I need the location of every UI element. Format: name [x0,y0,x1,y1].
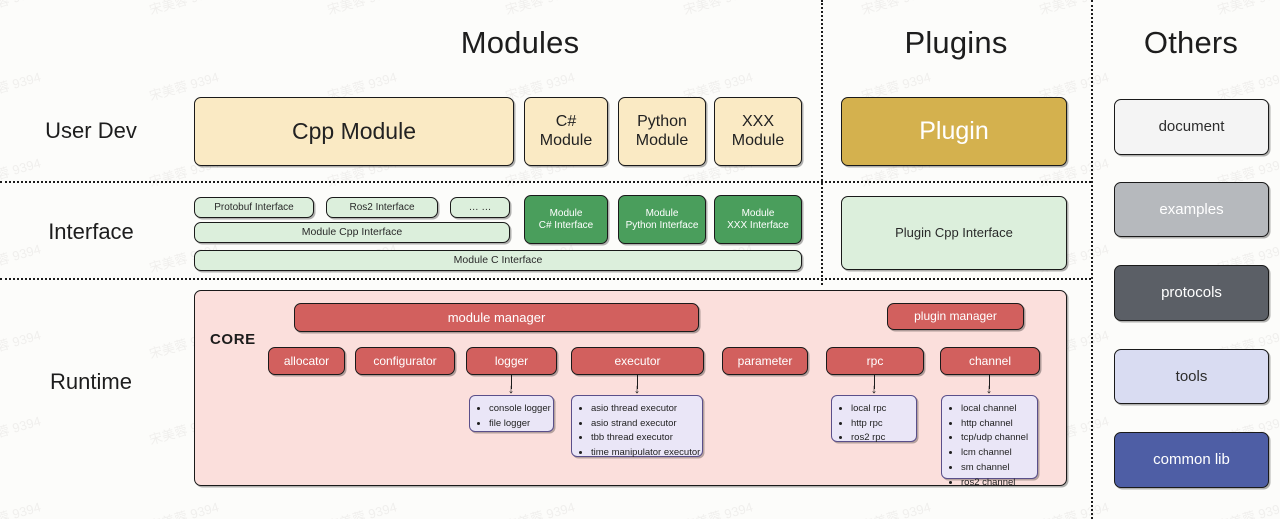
interface-module-c[interactable]: Module C Interface [194,250,802,271]
others-document[interactable]: document [1114,99,1269,155]
core-executor-label: executor [614,354,660,368]
divider-userdev-interface [0,181,1091,183]
others-tools-label: tools [1176,368,1208,386]
watermark-text: 宋美蓉 9394 [859,0,933,18]
detail-item: console logger [489,402,547,417]
detail-item: lcm channel [961,446,1031,461]
interface-module-xxx[interactable]: Module XXX Interface [714,195,802,244]
detail-item: sm channel [961,461,1031,476]
interface-ros2[interactable]: Ros2 Interface [326,197,438,218]
core-configurator[interactable]: configurator [355,347,455,375]
core-rpc[interactable]: rpc [826,347,924,375]
watermark-text: 宋美蓉 9394 [1037,0,1111,18]
interface-module-csharp-label: Module C# Interface [539,208,593,232]
interface-plugin-cpp[interactable]: Plugin Cpp Interface [841,196,1067,270]
user-dev-python-module-label: Python Module [636,113,688,151]
watermark-text: 宋美蓉 9394 [859,497,933,519]
row-label-interface: Interface [6,219,176,245]
column-header-others: Others [1106,25,1276,61]
core-label: CORE [210,331,256,348]
divider-modules-plugins [821,0,823,285]
watermark-text: 宋美蓉 9394 [503,497,577,519]
arrow-executor-icon: ↓ [630,382,644,395]
watermark-text: 宋美蓉 9394 [681,497,755,519]
others-protocols-label: protocols [1161,284,1222,302]
core-channel[interactable]: channel [940,347,1040,375]
user-dev-xxx-module[interactable]: XXX Module [714,97,802,166]
arrow-channel-icon: ↓ [982,382,996,395]
core-allocator[interactable]: allocator [268,347,345,375]
watermark-text: 宋美蓉 9394 [325,497,399,519]
core-module-manager[interactable]: module manager [294,303,699,332]
others-examples-label: examples [1159,201,1223,219]
user-dev-csharp-module[interactable]: C# Module [524,97,608,166]
watermark-text: 宋美蓉 9394 [0,497,43,519]
interface-module-c-label: Module C Interface [454,254,543,266]
rpc-details-list: local rpchttp rpcros2 rpc [839,402,910,446]
others-protocols[interactable]: protocols [1114,265,1269,321]
detail-item: time manipulator executor [591,446,696,461]
interface-module-python[interactable]: Module Python Interface [618,195,706,244]
logger-details-list: console loggerfile logger [477,402,547,431]
column-header-modules: Modules [300,25,740,61]
user-dev-cpp-module-label: Cpp Module [292,118,416,145]
user-dev-plugin[interactable]: Plugin [841,97,1067,166]
interface-module-cpp-label: Module Cpp Interface [302,226,402,238]
detail-item: asio thread executor [591,402,696,417]
rpc-details: local rpchttp rpcros2 rpc [831,395,917,442]
detail-item: local channel [961,402,1031,417]
detail-item: http rpc [851,417,910,432]
core-configurator-label: configurator [373,354,436,368]
core-allocator-label: allocator [284,354,329,368]
detail-item: ros2 rpc [851,431,910,446]
logger-details: console loggerfile logger [469,395,554,432]
core-channel-label: channel [969,354,1011,368]
watermark-text: 宋美蓉 9394 [0,67,43,105]
watermark-text: 宋美蓉 9394 [1037,497,1111,519]
interface-module-xxx-label: Module XXX Interface [727,208,789,232]
column-header-plugins: Plugins [836,25,1076,61]
core-logger-label: logger [495,354,528,368]
architecture-diagram: 宋美蓉 9394宋美蓉 9394宋美蓉 9394宋美蓉 9394宋美蓉 9394… [0,0,1280,519]
executor-details-list: asio thread executorasio strand executor… [579,402,696,461]
interface-ros2-label: Ros2 Interface [349,202,414,214]
detail-item: http channel [961,417,1031,432]
channel-details-list: local channelhttp channeltcp/udp channel… [949,402,1031,490]
detail-item: local rpc [851,402,910,417]
user-dev-csharp-module-label: C# Module [540,113,592,151]
detail-item: file logger [489,417,547,432]
others-tools[interactable]: tools [1114,349,1269,404]
core-rpc-label: rpc [867,354,884,368]
user-dev-cpp-module[interactable]: Cpp Module [194,97,514,166]
detail-item: tcp/udp channel [961,431,1031,446]
others-common-lib[interactable]: common lib [1114,432,1269,488]
detail-item: tbb thread executor [591,431,696,446]
watermark-text: 宋美蓉 9394 [0,0,43,18]
core-executor[interactable]: executor [571,347,704,375]
watermark-text: 宋美蓉 9394 [0,411,43,449]
watermark-text: 宋美蓉 9394 [0,153,43,191]
row-label-user-dev: User Dev [6,118,176,144]
interface-more[interactable]: … … [450,197,510,218]
core-parameter[interactable]: parameter [722,347,808,375]
arrow-rpc-icon: ↓ [867,382,881,395]
arrow-logger-icon: ↓ [504,382,518,395]
interface-protobuf[interactable]: Protobuf Interface [194,197,314,218]
detail-item: ros2 channel [961,476,1031,491]
core-logger[interactable]: logger [466,347,557,375]
others-common-lib-label: common lib [1153,451,1230,469]
detail-item: asio strand executor [591,417,696,432]
divider-interface-runtime [0,278,1091,280]
channel-details: local channelhttp channeltcp/udp channel… [941,395,1038,479]
user-dev-python-module[interactable]: Python Module [618,97,706,166]
watermark-text: 宋美蓉 9394 [147,497,221,519]
interface-protobuf-label: Protobuf Interface [214,202,294,214]
core-module-manager-label: module manager [448,310,546,325]
others-examples[interactable]: examples [1114,182,1269,237]
interface-module-cpp[interactable]: Module Cpp Interface [194,222,510,243]
interface-module-python-label: Module Python Interface [626,208,699,232]
others-document-label: document [1159,118,1225,136]
core-plugin-manager-label: plugin manager [914,309,997,323]
user-dev-xxx-module-label: XXX Module [732,113,784,151]
watermark-text: 宋美蓉 9394 [147,0,221,18]
watermark-text: 宋美蓉 9394 [1215,497,1280,519]
core-plugin-manager[interactable]: plugin manager [887,303,1024,330]
interface-more-label: … … [469,202,492,214]
watermark-text: 宋美蓉 9394 [1215,0,1280,18]
executor-details: asio thread executorasio strand executor… [571,395,703,457]
divider-plugins-others [1091,0,1093,519]
core-parameter-label: parameter [738,354,793,368]
watermark-text: 宋美蓉 9394 [0,325,43,363]
watermark-text: 宋美蓉 9394 [681,0,755,18]
watermark-text: 宋美蓉 9394 [503,0,577,18]
user-dev-plugin-label: Plugin [919,117,989,147]
watermark-text: 宋美蓉 9394 [325,0,399,18]
interface-module-csharp[interactable]: Module C# Interface [524,195,608,244]
row-label-runtime: Runtime [6,369,176,395]
interface-plugin-cpp-label: Plugin Cpp Interface [895,225,1013,240]
